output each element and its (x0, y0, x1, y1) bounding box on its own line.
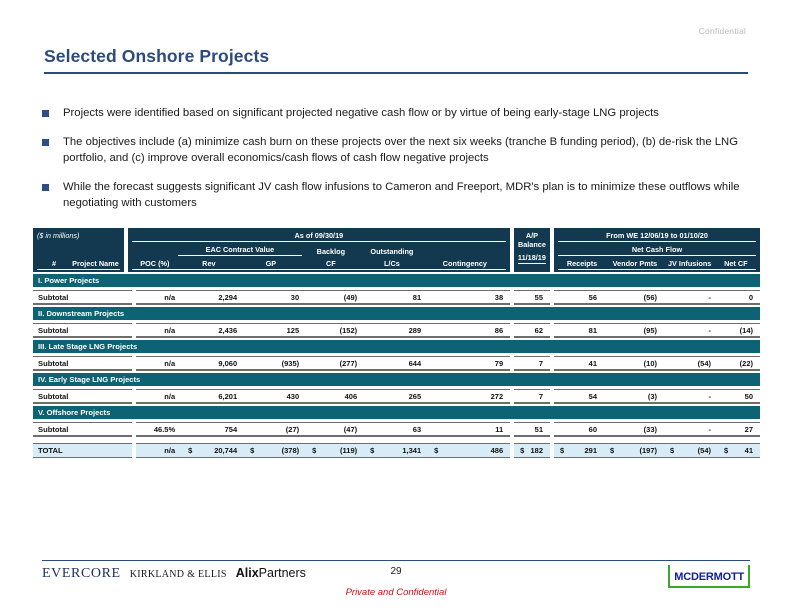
table-total-row: TOTAL n/a $20,744 $(378) $(119) $1,341 $… (33, 443, 760, 458)
cell-lcs: 289 (364, 326, 428, 335)
currency-symbol: $ (520, 446, 524, 455)
row-cashflow-values: 56 (56) - 0 (554, 290, 760, 305)
private-confidential-note: Private and Confidential (0, 587, 792, 598)
total-value-ap: 182 (530, 446, 543, 455)
bullet-text: The objectives include (a) minimize cash… (63, 134, 748, 166)
cell-poc: n/a (136, 326, 182, 335)
total-cell-receipts: $291 (554, 446, 604, 455)
col-header-number: # (37, 259, 71, 270)
cell-poc: 46.5% (136, 425, 182, 434)
header-block-asof: As of 09/30/19 EAC Contract Value Backlo… (128, 228, 510, 272)
col-header-lcs: L/Cs (360, 259, 424, 270)
total-cell-rev: $20,744 (182, 446, 244, 455)
total-cell-contingency: $486 (428, 446, 510, 455)
cell-cf: (49) (306, 293, 364, 302)
header-block-project: ($ in millions) # Project Name (33, 228, 124, 272)
cell-receipts: 56 (554, 293, 604, 302)
total-cell-cf: $(119) (306, 446, 364, 455)
total-value-gp: (378) (282, 446, 300, 455)
cell-net-cf: 0 (718, 293, 760, 302)
cell-vendor-pmts: (10) (604, 359, 664, 368)
total-value-lcs: 1,341 (402, 446, 421, 455)
col-header-contingency: Contingency (424, 259, 506, 270)
currency-symbol: $ (434, 446, 438, 455)
total-value-cf: (119) (340, 446, 357, 455)
confidential-marker: Confidential (699, 26, 746, 36)
row-label: Subtotal (33, 290, 132, 305)
cell-cf: 406 (306, 392, 364, 401)
currency-symbol: $ (188, 446, 192, 455)
cell-receipts: 60 (554, 425, 604, 434)
section-header-row: I. Power Projects (33, 274, 760, 287)
row-cashflow-values: 81 (95) - (14) (554, 323, 760, 338)
footer-divider (42, 560, 750, 561)
cell-poc: n/a (136, 293, 182, 302)
col-header-gp: GP (240, 259, 302, 270)
cell-gp: 430 (244, 392, 306, 401)
bullet-list: Projects were identified based on signif… (42, 105, 748, 224)
cell-contingency: 86 (428, 326, 510, 335)
currency-symbol: $ (370, 446, 374, 455)
group-spacer-contingency (424, 247, 506, 256)
total-cell-net-cf: $41 (718, 446, 760, 455)
total-label: TOTAL (33, 443, 132, 458)
col-header-rev: Rev (178, 259, 240, 270)
cell-vendor-pmts: (56) (604, 293, 664, 302)
projects-table: ($ in millions) # Project Name As of 09/… (33, 228, 760, 458)
col-header-cf: CF (302, 259, 360, 270)
row-label: Subtotal (33, 323, 132, 338)
group-header-net-cash-flow: Net Cash Flow (558, 245, 756, 256)
group-header-as-of: As of 09/30/19 (132, 231, 506, 242)
cell-jv-infusions: - (664, 326, 718, 335)
cell-net-cf: 27 (718, 425, 760, 434)
cell-lcs: 81 (364, 293, 428, 302)
table-header: ($ in millions) # Project Name As of 09/… (33, 228, 760, 272)
group-header-ap-balance: Balance (518, 240, 546, 249)
cell-ap-balance: 55 (514, 293, 550, 302)
row-label: Subtotal (33, 422, 132, 437)
cell-net-cf: 50 (718, 392, 760, 401)
cell-vendor-pmts: (33) (604, 425, 664, 434)
col-header-jv-infusions: JV Infusions (664, 259, 716, 270)
total-asof-values: n/a $20,744 $(378) $(119) $1,341 $486 (136, 443, 510, 458)
mcdermott-logo-text: MCDERMOTT (674, 571, 744, 583)
cell-net-cf: (22) (718, 359, 760, 368)
total-cell-ap: $182 (514, 446, 550, 455)
total-value-net-cf: 41 (745, 446, 753, 455)
row-cashflow-values: 41 (10) (54) (22) (554, 356, 760, 371)
cell-vendor-pmts: (95) (604, 326, 664, 335)
mcdermott-logo: MCDERMOTT (668, 565, 750, 588)
cell-jv-infusions: - (664, 293, 718, 302)
cell-lcs: 265 (364, 392, 428, 401)
total-value-contingency: 486 (491, 446, 504, 455)
cell-rev: 754 (182, 425, 244, 434)
col-header-project-name: Project Name (71, 259, 120, 270)
bullet-item: While the forecast suggests significant … (42, 179, 748, 211)
row-spacer (33, 437, 760, 440)
cell-ap-balance: 7 (514, 392, 550, 401)
row-cashflow-values: 54 (3) - 50 (554, 389, 760, 404)
cell-gp: 30 (244, 293, 306, 302)
row-ap-values: 7 (514, 356, 550, 371)
table-row: Subtotal n/a 2,294 30 (49) 81 38 55 56 (… (33, 290, 760, 305)
cell-gp: 125 (244, 326, 306, 335)
square-bullet-icon (42, 139, 49, 146)
total-value-rev: 20,744 (214, 446, 237, 455)
cell-cf: (47) (306, 425, 364, 434)
cell-gp: (27) (244, 425, 306, 434)
bullet-item: Projects were identified based on signif… (42, 105, 748, 121)
bullet-item: The objectives include (a) minimize cash… (42, 134, 748, 166)
title-divider (44, 72, 748, 74)
section-header-row: IV. Early Stage LNG Projects (33, 373, 760, 386)
section-header-row: II. Downstream Projects (33, 307, 760, 320)
currency-symbol: $ (610, 446, 614, 455)
col-header-net-cf: Net CF (716, 259, 756, 270)
cell-jv-infusions: (54) (664, 359, 718, 368)
cell-receipts: 41 (554, 359, 604, 368)
cell-lcs: 63 (364, 425, 428, 434)
row-ap-values: 51 (514, 422, 550, 437)
row-asof-values: n/a 2,436 125 (152) 289 86 (136, 323, 510, 338)
row-label: Subtotal (33, 356, 132, 371)
row-cashflow-values: 60 (33) - 27 (554, 422, 760, 437)
currency-symbol: $ (250, 446, 254, 455)
cell-rev: 9,060 (182, 359, 244, 368)
header-block-cashflow: From WE 12/06/19 to 01/10/20 Net Cash Fl… (554, 228, 760, 272)
table-row: Subtotal 46.5% 754 (27) (47) 63 11 51 60… (33, 422, 760, 437)
cell-gp: (935) (244, 359, 306, 368)
row-ap-values: 7 (514, 389, 550, 404)
square-bullet-icon (42, 110, 49, 117)
total-cashflow-values: $291 $(197) $(54) $41 (554, 443, 760, 458)
cell-cf: (152) (306, 326, 364, 335)
header-block-ap: A/P Balance 11/18/19 (514, 228, 550, 272)
cell-lcs: 644 (364, 359, 428, 368)
group-header-outstanding: Outstanding (360, 247, 424, 256)
row-asof-values: n/a 6,201 430 406 265 272 (136, 389, 510, 404)
currency-symbol: $ (670, 446, 674, 455)
col-header-vendor-pmts: Vendor Pmts (606, 259, 664, 270)
square-bullet-icon (42, 184, 49, 191)
total-ap-values: $182 (514, 443, 550, 458)
cell-receipts: 81 (554, 326, 604, 335)
cell-ap-balance: 62 (514, 326, 550, 335)
table-row: Subtotal n/a 9,060 (935) (277) 644 79 7 … (33, 356, 760, 371)
cell-jv-infusions: - (664, 425, 718, 434)
table-row: Subtotal n/a 2,436 125 (152) 289 86 62 8… (33, 323, 760, 338)
section-header-row: V. Offshore Projects (33, 406, 760, 419)
cell-contingency: 272 (428, 392, 510, 401)
col-header-ap-date: 11/18/19 (518, 253, 546, 264)
currency-symbol: $ (724, 446, 728, 455)
cell-rev: 6,201 (182, 392, 244, 401)
bullet-text: While the forecast suggests significant … (63, 179, 748, 211)
row-asof-values: n/a 9,060 (935) (277) 644 79 (136, 356, 510, 371)
row-label: Subtotal (33, 389, 132, 404)
group-header-eac: EAC Contract Value (178, 245, 302, 256)
currency-symbol: $ (560, 446, 564, 455)
bullet-text: Projects were identified based on signif… (63, 105, 748, 121)
title-block: Selected Onshore Projects (44, 46, 748, 74)
cell-net-cf: (14) (718, 326, 760, 335)
cell-contingency: 79 (428, 359, 510, 368)
total-cell-gp: $(378) (244, 446, 306, 455)
col-header-poc: POC (%) (132, 259, 178, 270)
row-asof-values: 46.5% 754 (27) (47) 63 11 (136, 422, 510, 437)
cell-rev: 2,436 (182, 326, 244, 335)
cell-contingency: 38 (428, 293, 510, 302)
cell-poc: n/a (136, 359, 182, 368)
page-title: Selected Onshore Projects (44, 46, 748, 72)
total-value-vendor-pmts: (197) (639, 446, 657, 455)
cell-receipts: 54 (554, 392, 604, 401)
table-row: Subtotal n/a 6,201 430 406 265 272 7 54 … (33, 389, 760, 404)
cell-poc: n/a (136, 392, 182, 401)
col-header-receipts: Receipts (558, 259, 606, 270)
row-asof-values: n/a 2,294 30 (49) 81 38 (136, 290, 510, 305)
total-value-jv-infusions: (54) (698, 446, 711, 455)
total-cell-lcs: $1,341 (364, 446, 428, 455)
total-cell-jv-infusions: $(54) (664, 446, 718, 455)
cell-ap-balance: 7 (514, 359, 550, 368)
cell-vendor-pmts: (3) (604, 392, 664, 401)
cell-rev: 2,294 (182, 293, 244, 302)
total-value-receipts: 291 (584, 446, 597, 455)
cell-jv-infusions: - (664, 392, 718, 401)
cell-contingency: 11 (428, 425, 510, 434)
row-ap-values: 62 (514, 323, 550, 338)
cell-ap-balance: 51 (514, 425, 550, 434)
row-ap-values: 55 (514, 290, 550, 305)
total-cell-poc: n/a (136, 446, 182, 455)
group-header-ap: A/P (518, 231, 546, 240)
total-cell-vendor-pmts: $(197) (604, 446, 664, 455)
currency-symbol: $ (312, 446, 316, 455)
group-spacer-poc (132, 247, 178, 256)
units-note: ($ in millions) (37, 231, 120, 240)
group-header-backlog: Backlog (302, 247, 360, 256)
section-header-row: III. Late Stage LNG Projects (33, 340, 760, 353)
cell-cf: (277) (306, 359, 364, 368)
group-header-week-range: From WE 12/06/19 to 01/10/20 (558, 231, 756, 242)
